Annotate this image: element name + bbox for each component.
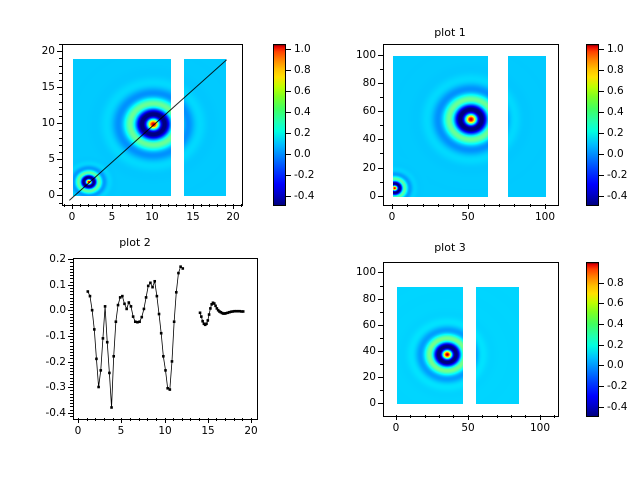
colorbar-tick-label: 0.6: [294, 85, 311, 97]
colorbar-tick-label: 0.6: [607, 85, 624, 97]
data-point-marker: [104, 305, 107, 308]
y-major-tick: [68, 362, 73, 363]
data-point-marker: [149, 282, 152, 285]
y-minor-tick: [59, 167, 62, 168]
x-minor-tick: [234, 418, 235, 421]
y-major-tick: [378, 83, 383, 84]
data-point-marker: [123, 303, 126, 306]
y-minor-tick: [380, 69, 383, 70]
heatmap-canvas: [384, 45, 558, 205]
colorbar-tick-label: -0.4: [607, 401, 628, 413]
x-minor-tick: [160, 204, 161, 207]
y-minor-tick: [59, 102, 62, 103]
x-minor-tick: [482, 415, 483, 418]
y-minor-tick: [70, 301, 73, 302]
y-minor-tick: [70, 374, 73, 375]
y-minor-tick: [59, 109, 62, 110]
x-major-tick: [540, 415, 541, 420]
heatmap-image-bottom-right: [384, 263, 558, 416]
colorbar-tick-label: 0.0: [607, 359, 624, 371]
y-major-tick: [57, 123, 62, 124]
colorbar-tick: [599, 303, 604, 304]
y-tick-label: 0.0: [22, 304, 66, 316]
data-point-marker: [199, 311, 202, 314]
data-point-marker: [200, 315, 203, 318]
x-minor-tick: [147, 418, 148, 421]
y-tick-label: 20: [332, 162, 376, 174]
x-minor-tick: [113, 418, 114, 421]
colorbar-tick-label: -0.2: [294, 169, 315, 181]
y-minor-tick: [70, 314, 73, 315]
y-minor-tick: [380, 97, 383, 98]
colorbar-tick-label: -0.4: [607, 190, 628, 202]
y-major-tick: [378, 403, 383, 404]
data-point-marker: [140, 316, 143, 319]
y-minor-tick: [70, 403, 73, 404]
y-minor-tick: [59, 94, 62, 95]
y-tick-label: 20: [332, 371, 376, 383]
y-major-tick: [68, 285, 73, 286]
y-major-tick: [68, 387, 73, 388]
data-point-marker: [156, 295, 159, 298]
y-minor-tick: [70, 378, 73, 379]
data-point-marker: [95, 358, 98, 361]
y-minor-tick: [380, 390, 383, 391]
colorbar-tick: [599, 112, 604, 113]
data-point-marker: [128, 301, 131, 304]
colorbar-tick: [599, 324, 604, 325]
x-minor-tick: [216, 418, 217, 421]
y-minor-tick: [70, 317, 73, 318]
colorbar-tick: [599, 175, 604, 176]
x-minor-tick: [201, 204, 202, 207]
x-minor-tick: [64, 204, 65, 207]
colorbar-tick-label: -0.2: [607, 169, 628, 181]
colorbar-tick-label: 1.0: [294, 43, 311, 55]
colorbar-tick: [286, 70, 291, 71]
colorbar-tick: [286, 133, 291, 134]
y-minor-tick: [70, 307, 73, 308]
data-point-marker: [97, 386, 100, 389]
y-minor-tick: [70, 355, 73, 356]
colorbar-tick: [599, 70, 604, 71]
data-point-marker: [110, 406, 113, 409]
y-minor-tick: [70, 400, 73, 401]
y-major-tick: [378, 55, 383, 56]
heatmap-canvas: [384, 263, 558, 416]
y-tick-label: -0.3: [22, 381, 66, 393]
colorbar-gradient: [587, 263, 598, 416]
subplot-top-right-title: plot 1: [320, 26, 580, 39]
x-minor-tick: [182, 418, 183, 421]
data-point-marker: [132, 315, 135, 318]
y-minor-tick: [59, 58, 62, 59]
y-tick-label: 0: [11, 189, 55, 201]
y-minor-tick: [70, 333, 73, 334]
y-tick-label: 20: [11, 45, 55, 57]
x-minor-tick: [209, 204, 210, 207]
y-minor-tick: [380, 364, 383, 365]
x-minor-tick: [453, 415, 454, 418]
x-minor-tick: [525, 415, 526, 418]
y-minor-tick: [59, 203, 62, 204]
y-major-tick: [378, 272, 383, 273]
axes-bottom-left[interactable]: [73, 258, 258, 420]
y-tick-label: 100: [332, 266, 376, 278]
y-minor-tick: [70, 326, 73, 327]
y-tick-label: 0: [332, 397, 376, 409]
colorbar-tick-label: 0.4: [607, 318, 624, 330]
y-minor-tick: [70, 262, 73, 263]
y-major-tick: [68, 336, 73, 337]
x-minor-tick: [241, 204, 242, 207]
data-point-marker: [102, 337, 105, 340]
data-point-marker: [205, 322, 208, 325]
y-tick-label: 0: [332, 190, 376, 202]
x-minor-tick: [225, 418, 226, 421]
data-point-marker: [162, 355, 165, 358]
y-minor-tick: [70, 390, 73, 391]
data-point-marker: [112, 355, 115, 358]
x-minor-tick: [185, 204, 186, 207]
y-minor-tick: [70, 275, 73, 276]
x-minor-tick: [425, 415, 426, 418]
data-point-marker: [242, 310, 245, 313]
colorbar-tick: [599, 283, 604, 284]
y-minor-tick: [59, 181, 62, 182]
x-tick-label: 0: [69, 211, 76, 223]
y-minor-tick: [70, 358, 73, 359]
data-point-marker: [171, 360, 174, 363]
y-minor-tick: [380, 312, 383, 313]
x-major-tick: [468, 204, 469, 209]
colorbar-tick: [599, 49, 604, 50]
y-major-tick: [378, 377, 383, 378]
x-minor-tick: [120, 204, 121, 207]
data-point-marker: [130, 305, 133, 308]
x-minor-tick: [96, 204, 97, 207]
y-minor-tick: [70, 371, 73, 372]
colorbar-tick: [599, 196, 604, 197]
colorbar-top-right: [586, 44, 599, 206]
axes-bottom-right[interactable]: [383, 262, 559, 417]
x-minor-tick: [554, 415, 555, 418]
y-minor-tick: [70, 365, 73, 366]
y-minor-tick: [70, 394, 73, 395]
y-minor-tick: [70, 381, 73, 382]
x-minor-tick: [410, 415, 411, 418]
y-major-tick: [378, 299, 383, 300]
colorbar-tick: [286, 91, 291, 92]
colorbar-tick: [286, 49, 291, 50]
x-minor-tick: [439, 415, 440, 418]
data-point-marker: [108, 372, 111, 375]
x-tick-label: 15: [186, 211, 199, 223]
y-tick-label: -0.4: [22, 407, 66, 419]
x-tick-label: 10: [158, 425, 171, 437]
colorbar-tick-label: 0.6: [607, 297, 624, 309]
figure-canvas: 0510152005101520 1.00.80.60.40.20.0-0.2-…: [0, 0, 640, 480]
x-minor-tick: [104, 204, 105, 207]
y-minor-tick: [70, 266, 73, 267]
x-minor-tick: [128, 204, 129, 207]
y-major-tick: [57, 51, 62, 52]
x-tick-label: 100: [530, 422, 550, 434]
x-minor-tick: [497, 415, 498, 418]
x-minor-tick: [168, 204, 169, 207]
y-minor-tick: [59, 174, 62, 175]
y-major-tick: [378, 168, 383, 169]
x-minor-tick: [176, 204, 177, 207]
x-minor-tick: [95, 418, 96, 421]
x-minor-tick: [514, 204, 515, 207]
y-major-tick: [57, 87, 62, 88]
y-major-tick: [378, 325, 383, 326]
colorbar-tick-label: -0.2: [607, 380, 628, 392]
x-minor-tick: [104, 418, 105, 421]
colorbar-tick: [599, 154, 604, 155]
colorbar-bottom-right: [586, 262, 599, 417]
y-minor-tick: [70, 291, 73, 292]
y-minor-tick: [59, 152, 62, 153]
data-point-marker: [106, 341, 109, 344]
y-minor-tick: [70, 416, 73, 417]
y-minor-tick: [380, 125, 383, 126]
y-minor-tick: [380, 153, 383, 154]
y-tick-label: 5: [11, 153, 55, 165]
data-point-marker: [115, 320, 118, 323]
data-point-marker: [201, 320, 204, 323]
y-minor-tick: [70, 298, 73, 299]
colorbar-gradient: [274, 45, 285, 205]
y-tick-label: 80: [332, 77, 376, 89]
colorbar-tick: [599, 407, 604, 408]
x-major-tick: [121, 418, 122, 423]
x-minor-tick: [156, 418, 157, 421]
data-point-marker: [153, 280, 156, 283]
data-point-marker: [145, 296, 148, 299]
data-point-marker: [99, 369, 102, 372]
y-major-tick: [68, 310, 73, 311]
y-major-tick: [378, 351, 383, 352]
x-minor-tick: [453, 204, 454, 207]
y-major-tick: [378, 111, 383, 112]
colorbar-tick-label: 0.0: [607, 148, 624, 160]
x-major-tick: [233, 204, 234, 209]
y-minor-tick: [59, 145, 62, 146]
colorbar-tick-label: 0.2: [607, 339, 624, 351]
heatmap-image-top-right: [384, 45, 558, 205]
y-minor-tick: [70, 352, 73, 353]
y-minor-tick: [70, 397, 73, 398]
x-major-tick: [392, 204, 393, 209]
y-minor-tick: [70, 339, 73, 340]
colorbar-tick-label: 0.2: [607, 127, 624, 139]
y-minor-tick: [70, 323, 73, 324]
data-point-marker: [207, 319, 210, 322]
data-point-marker: [147, 285, 150, 288]
x-minor-tick: [199, 418, 200, 421]
colorbar-top-left: [273, 44, 286, 206]
data-point-marker: [158, 313, 161, 316]
axes-top-right[interactable]: [383, 44, 559, 206]
colorbar-tick-label: 0.8: [607, 277, 624, 289]
y-tick-label: 60: [332, 105, 376, 117]
y-minor-tick: [70, 406, 73, 407]
colorbar-tick: [599, 365, 604, 366]
y-tick-label: -0.2: [22, 356, 66, 368]
y-minor-tick: [59, 188, 62, 189]
x-minor-tick: [136, 204, 137, 207]
subplot-bottom-left-title: plot 2: [0, 236, 270, 249]
x-tick-label: 0: [393, 422, 400, 434]
y-tick-label: 10: [11, 117, 55, 129]
y-minor-tick: [380, 182, 383, 183]
y-minor-tick: [59, 80, 62, 81]
x-tick-label: 15: [201, 425, 214, 437]
x-major-tick: [78, 418, 79, 423]
x-minor-tick: [130, 418, 131, 421]
y-minor-tick: [70, 368, 73, 369]
colorbar-tick: [286, 112, 291, 113]
data-point-marker: [121, 295, 124, 298]
x-minor-tick: [139, 418, 140, 421]
colorbar-tick: [599, 345, 604, 346]
y-major-tick: [378, 139, 383, 140]
x-major-tick: [152, 204, 153, 209]
x-minor-tick: [511, 415, 512, 418]
x-major-tick: [112, 204, 113, 209]
data-point-marker: [175, 291, 178, 294]
data-point-marker: [214, 305, 217, 308]
y-minor-tick: [70, 346, 73, 347]
x-minor-tick: [499, 204, 500, 207]
colorbar-gradient: [587, 45, 598, 205]
x-major-tick: [396, 415, 397, 420]
y-tick-label: 15: [11, 81, 55, 93]
colorbar-tick-label: 0.8: [607, 64, 624, 76]
y-minor-tick: [59, 44, 62, 45]
data-point-marker: [125, 308, 128, 311]
x-tick-label: 20: [244, 425, 257, 437]
y-minor-tick: [380, 286, 383, 287]
y-minor-tick: [59, 116, 62, 117]
data-point-marker: [117, 304, 120, 307]
x-tick-label: 10: [145, 211, 158, 223]
y-minor-tick: [70, 269, 73, 270]
data-point-marker: [91, 309, 94, 312]
x-tick-label: 0: [389, 211, 396, 223]
data-point-marker: [181, 267, 184, 270]
x-tick-label: 50: [461, 211, 474, 223]
y-minor-tick: [70, 342, 73, 343]
x-minor-tick: [144, 204, 145, 207]
x-minor-tick: [225, 204, 226, 207]
y-minor-tick: [70, 294, 73, 295]
colorbar-tick-label: 0.4: [294, 106, 311, 118]
colorbar-tick-label: 0.0: [294, 148, 311, 160]
x-major-tick: [193, 204, 194, 209]
x-minor-tick: [173, 418, 174, 421]
data-point-marker: [177, 272, 180, 275]
y-minor-tick: [70, 320, 73, 321]
y-tick-label: 100: [332, 49, 376, 61]
y-major-tick: [68, 259, 73, 260]
y-minor-tick: [70, 384, 73, 385]
x-minor-tick: [242, 418, 243, 421]
colorbar-tick-label: 1.0: [607, 43, 624, 55]
y-minor-tick: [70, 410, 73, 411]
x-minor-tick: [530, 204, 531, 207]
x-minor-tick: [438, 204, 439, 207]
y-tick-label: 0.2: [22, 253, 66, 265]
colorbar-tick: [599, 386, 604, 387]
colorbar-tick: [286, 175, 291, 176]
x-tick-label: 5: [118, 425, 125, 437]
x-major-tick: [468, 415, 469, 420]
colorbar-tick-label: -0.4: [294, 190, 315, 202]
y-minor-tick: [70, 330, 73, 331]
data-point-marker: [151, 286, 154, 289]
data-point-marker: [208, 313, 211, 316]
x-tick-label: 20: [226, 211, 239, 223]
y-minor-tick: [59, 66, 62, 67]
y-tick-label: 40: [332, 345, 376, 357]
data-point-marker: [209, 307, 212, 310]
y-minor-tick: [59, 138, 62, 139]
colorbar-tick: [599, 91, 604, 92]
data-point-marker: [143, 308, 146, 311]
y-tick-label: 0.1: [22, 279, 66, 291]
y-minor-tick: [70, 304, 73, 305]
y-tick-label: 60: [332, 319, 376, 331]
colorbar-tick: [286, 154, 291, 155]
x-major-tick: [165, 418, 166, 423]
colorbar-tick-label: 0.2: [294, 127, 311, 139]
x-minor-tick: [87, 418, 88, 421]
y-minor-tick: [70, 288, 73, 289]
data-point-marker: [169, 388, 172, 391]
data-point-marker: [213, 302, 216, 305]
y-tick-label: 80: [332, 293, 376, 305]
x-tick-label: 0: [75, 425, 82, 437]
data-point-marker: [138, 320, 141, 323]
data-point-marker: [87, 290, 90, 293]
x-minor-tick: [190, 418, 191, 421]
y-major-tick: [378, 196, 383, 197]
colorbar-tick-label: 0.4: [607, 106, 624, 118]
axes-top-left[interactable]: [62, 44, 243, 206]
y-minor-tick: [70, 349, 73, 350]
x-major-tick: [208, 418, 209, 423]
y-major-tick: [68, 413, 73, 414]
colorbar-tick: [286, 196, 291, 197]
data-point-marker: [164, 369, 167, 372]
x-minor-tick: [407, 204, 408, 207]
line-series-plot2: [74, 259, 257, 419]
data-point-marker: [89, 295, 92, 298]
y-major-tick: [57, 195, 62, 196]
y-major-tick: [57, 159, 62, 160]
y-minor-tick: [70, 278, 73, 279]
x-minor-tick: [80, 204, 81, 207]
data-point-marker: [173, 320, 176, 323]
y-minor-tick: [59, 130, 62, 131]
x-tick-label: 5: [109, 211, 116, 223]
x-minor-tick: [88, 204, 89, 207]
x-minor-tick: [423, 204, 424, 207]
y-minor-tick: [70, 282, 73, 283]
